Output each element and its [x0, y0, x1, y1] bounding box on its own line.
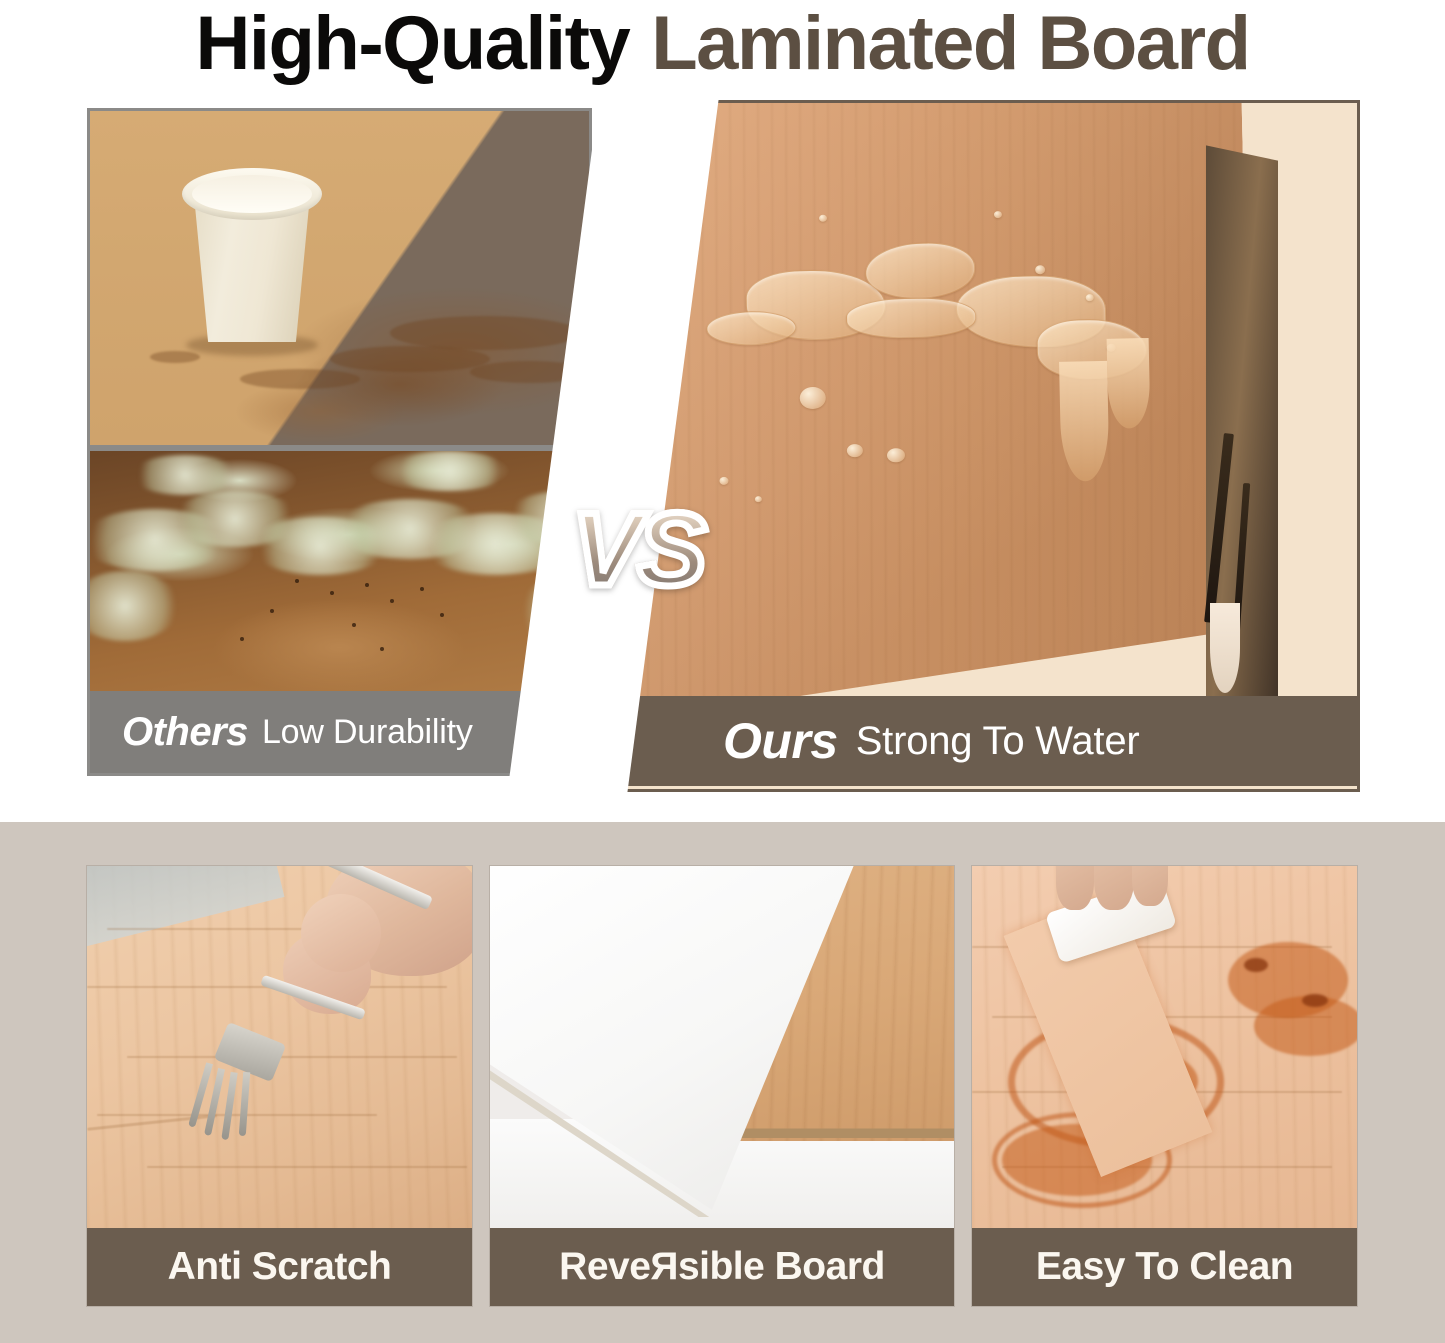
- easy-to-clean-image: [972, 866, 1357, 1228]
- ours-badge: Ours: [723, 712, 838, 770]
- feature-label-bar: ReveЯsible Board: [490, 1228, 954, 1306]
- page-title: High-Quality Laminated Board: [0, 0, 1445, 88]
- page-title-part2: Laminated Board: [651, 6, 1249, 82]
- mold-growth-image: [90, 451, 589, 697]
- feature-label-bar: Anti Scratch: [87, 1228, 472, 1306]
- feature-card-anti-scratch: Anti Scratch: [87, 866, 472, 1306]
- feature-card-easy-to-clean: Easy To Clean: [972, 866, 1357, 1306]
- reversible-board-image: [490, 866, 954, 1228]
- vs-badge: VS: [572, 498, 703, 602]
- anti-scratch-image: [87, 866, 472, 1228]
- finger: [1056, 866, 1094, 910]
- feature-label: Easy To Clean: [1036, 1245, 1293, 1289]
- paper-cup: [182, 148, 322, 348]
- ours-panel: Ours Strong To Water: [595, 100, 1360, 792]
- features-section: Anti Scratch ReveЯsible Board: [0, 822, 1445, 1343]
- feature-label: Anti Scratch: [168, 1245, 392, 1289]
- page-title-part1: High-Quality: [195, 6, 629, 82]
- water-drip-bottom: [1210, 603, 1240, 693]
- feature-card-reversible-board: ReveЯsible Board: [490, 866, 954, 1306]
- others-caption: Low Durability: [262, 713, 473, 752]
- ours-caption: Strong To Water: [856, 719, 1140, 764]
- others-badge: Others: [122, 710, 248, 755]
- feature-label: ReveЯsible Board: [559, 1245, 885, 1289]
- comparison-section: Others Low Durability: [0, 92, 1445, 792]
- feature-label-bar: Easy To Clean: [972, 1228, 1357, 1306]
- ours-label-bar: Ours Strong To Water: [601, 696, 1357, 786]
- others-panel: Others Low Durability: [87, 108, 592, 776]
- coffee-spill-image: [90, 111, 589, 445]
